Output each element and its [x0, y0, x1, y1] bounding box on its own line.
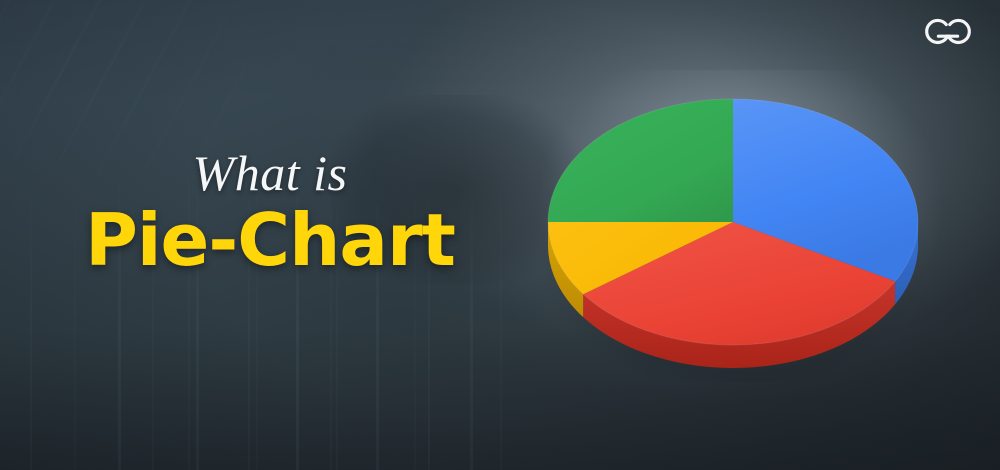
pie-chart	[530, 62, 950, 382]
pie-chart-svg	[530, 62, 950, 382]
pie-slice-green	[548, 99, 733, 222]
banner-root: What is Pie-Chart	[0, 0, 1000, 470]
geeksforgeeks-logo-icon[interactable]	[916, 14, 980, 48]
headline-subtitle: What is	[60, 148, 480, 198]
page-title: Pie-Chart	[60, 204, 480, 276]
headline-block: What is Pie-Chart	[60, 148, 480, 276]
